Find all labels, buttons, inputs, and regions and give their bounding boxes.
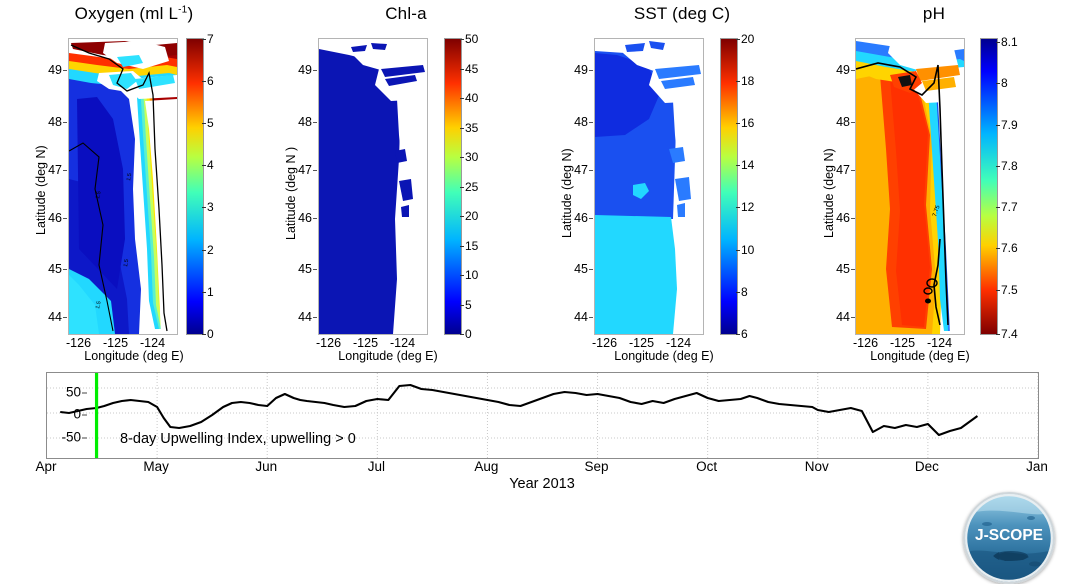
colorbar-tick: 15	[465, 239, 478, 253]
ytick-chl-a: 48	[272, 115, 312, 129]
map-chl-a-canvas	[319, 39, 427, 334]
colorbar-oxygen-gradient	[187, 39, 203, 334]
xtick-chl-a: -124	[390, 336, 415, 350]
xlabel-oxygen: Longitude (deg E)	[0, 349, 268, 363]
colorbar-sst[interactable]: 6 8 10 12 14 16 18 20	[720, 38, 738, 335]
j-scope-logo[interactable]: J-SCOPE	[963, 492, 1055, 584]
ytick-chl-a: 45	[272, 262, 312, 276]
map-sst[interactable]	[594, 38, 704, 335]
xtick-ph: -124	[927, 336, 952, 350]
ts-month-tick: Jul	[368, 459, 385, 474]
map-ph-canvas: 7.75	[856, 39, 964, 334]
ytick-sst: 49	[548, 63, 588, 77]
ytick-oxygen: 48	[22, 115, 62, 129]
panel-title-ph: pH	[802, 4, 1066, 24]
colorbar-chl-a[interactable]: 0 5 10 15 20 25 30 35 40 45 50	[444, 38, 462, 335]
ytick-ph: 45	[810, 262, 850, 276]
colorbar-tick: 12	[741, 200, 754, 214]
colorbar-sst-gradient	[721, 39, 737, 334]
ytick-ph: 49	[810, 63, 850, 77]
xtick-oxygen: -124	[140, 336, 165, 350]
ytick-sst: 47	[548, 163, 588, 177]
ytick-oxygen: 46	[22, 211, 62, 225]
xtick-ph: -126	[853, 336, 878, 350]
colorbar-tick: 8	[741, 285, 748, 299]
panel-chl-a: Chl-a Latitude (deg N ) Longitude (deg E…	[268, 0, 544, 365]
ytick-sst: 46	[548, 211, 588, 225]
xtick-sst: -126	[592, 336, 617, 350]
colorbar-tick: 18	[741, 74, 754, 88]
timeseries-annotation: 8-day Upwelling Index, upwelling > 0	[120, 431, 356, 447]
colorbar-tick: 6	[207, 74, 214, 88]
map-ph[interactable]: 7.75	[855, 38, 965, 335]
colorbar-tick: 7	[207, 32, 214, 46]
ytick-ph: 48	[810, 115, 850, 129]
ytick-oxygen: 44	[22, 310, 62, 324]
ytick-chl-a: 44	[272, 310, 312, 324]
map-oxygen[interactable]: 1.5 1.5 1.5 1.5	[68, 38, 178, 335]
xlabel-ph: Longitude (deg E)	[788, 349, 1052, 363]
ts-month-tick: Dec	[915, 459, 939, 474]
colorbar-tick: 3	[207, 200, 214, 214]
colorbar-ph[interactable]: 7.4 7.5 7.6 7.7 7.8 7.9 8 8.1	[980, 38, 998, 335]
map-oxygen-canvas: 1.5 1.5 1.5 1.5	[69, 39, 177, 334]
colorbar-tick: 16	[741, 116, 754, 130]
ts-month-tick: Sep	[585, 459, 609, 474]
colorbar-tick: 5	[207, 116, 214, 130]
ts-month-tick: Oct	[696, 459, 717, 474]
colorbar-tick: 20	[741, 32, 754, 46]
colorbar-oxygen[interactable]: 0 1 2 3 4 5 6 7	[186, 38, 204, 335]
xtick-sst: -125	[629, 336, 654, 350]
colorbar-tick: 4	[207, 158, 214, 172]
panel-title-oxygen: Oxygen (ml L-1)	[0, 4, 268, 24]
colorbar-tick: 0	[207, 327, 214, 341]
map-sst-canvas	[595, 39, 703, 334]
xtick-oxygen: -125	[103, 336, 128, 350]
xlabel-sst: Longitude (deg E)	[526, 349, 802, 363]
ytick-chl-a: 46	[272, 211, 312, 225]
xtick-sst: -124	[666, 336, 691, 350]
colorbar-tick: 7.5	[1001, 283, 1018, 297]
colorbar-tick: 8.1	[1001, 35, 1018, 49]
panel-title-chl-a: Chl-a	[268, 4, 544, 24]
colorbar-tick: 7.7	[1001, 200, 1018, 214]
colorbar-tick: 7.9	[1001, 118, 1018, 132]
colorbar-tick: 35	[465, 121, 478, 135]
colorbar-tick: 10	[465, 268, 478, 282]
colorbar-ph-gradient	[981, 39, 997, 334]
colorbar-tick: 6	[741, 327, 748, 341]
logo-text: J-SCOPE	[975, 527, 1043, 544]
ytick-sst: 48	[548, 115, 588, 129]
panel-ph: pH	[820, 0, 1084, 365]
ytick-sst: 44	[548, 310, 588, 324]
colorbar-tick: 30	[465, 150, 478, 164]
ytick-ph: 47	[810, 163, 850, 177]
ytick-ph: 46	[810, 211, 850, 225]
ytick-chl-a: 47	[272, 163, 312, 177]
colorbar-tick: 0	[465, 327, 472, 341]
timeseries-xlabel: Year 2013	[0, 476, 1084, 492]
ts-month-tick: Aug	[474, 459, 498, 474]
j-scope-logo-image: J-SCOPE	[965, 494, 1053, 582]
colorbar-tick: 2	[207, 243, 214, 257]
xlabel-chl-a: Longitude (deg E)	[250, 349, 526, 363]
ytick-oxygen: 47	[22, 163, 62, 177]
xtick-ph: -125	[890, 336, 915, 350]
panel-sst: SST (deg C)	[544, 0, 820, 365]
colorbar-tick: 20	[465, 209, 478, 223]
ts-ytick: -50	[21, 430, 81, 445]
colorbar-tick: 25	[465, 180, 478, 194]
xtick-chl-a: -126	[316, 336, 341, 350]
ts-month-tick: Nov	[805, 459, 829, 474]
ts-ytick: 0	[21, 407, 81, 422]
ts-month-tick: Jun	[255, 459, 277, 474]
ts-month-tick: Apr	[35, 459, 56, 474]
colorbar-tick: 7.6	[1001, 241, 1018, 255]
colorbar-tick: 8	[1001, 76, 1008, 90]
colorbar-tick: 7.8	[1001, 159, 1018, 173]
colorbar-tick: 40	[465, 91, 478, 105]
ytick-sst: 45	[548, 262, 588, 276]
ytick-oxygen: 45	[22, 262, 62, 276]
colorbar-tick: 1	[207, 285, 214, 299]
colorbar-tick: 10	[741, 243, 754, 257]
ylabel-chl-a: Latitude (deg N )	[284, 147, 298, 240]
colorbar-tick: 5	[465, 298, 472, 312]
panel-title-sst: SST (deg C)	[544, 4, 820, 24]
ts-month-tick: May	[143, 459, 169, 474]
map-chl-a[interactable]	[318, 38, 428, 335]
ytick-oxygen: 49	[22, 63, 62, 77]
colorbar-chl-a-gradient	[445, 39, 461, 334]
xtick-oxygen: -126	[66, 336, 91, 350]
colorbar-tick: 45	[465, 62, 478, 76]
colorbar-tick: 50	[465, 32, 478, 46]
colorbar-tick: 14	[741, 158, 754, 172]
xtick-chl-a: -125	[353, 336, 378, 350]
ts-month-tick: Jan	[1026, 459, 1048, 474]
ytick-chl-a: 49	[272, 63, 312, 77]
colorbar-tick: 7.4	[1001, 327, 1018, 341]
ts-ytick: 50	[21, 385, 81, 400]
panel-oxygen: Oxygen (ml L-1)	[0, 0, 268, 365]
ytick-ph: 44	[810, 310, 850, 324]
